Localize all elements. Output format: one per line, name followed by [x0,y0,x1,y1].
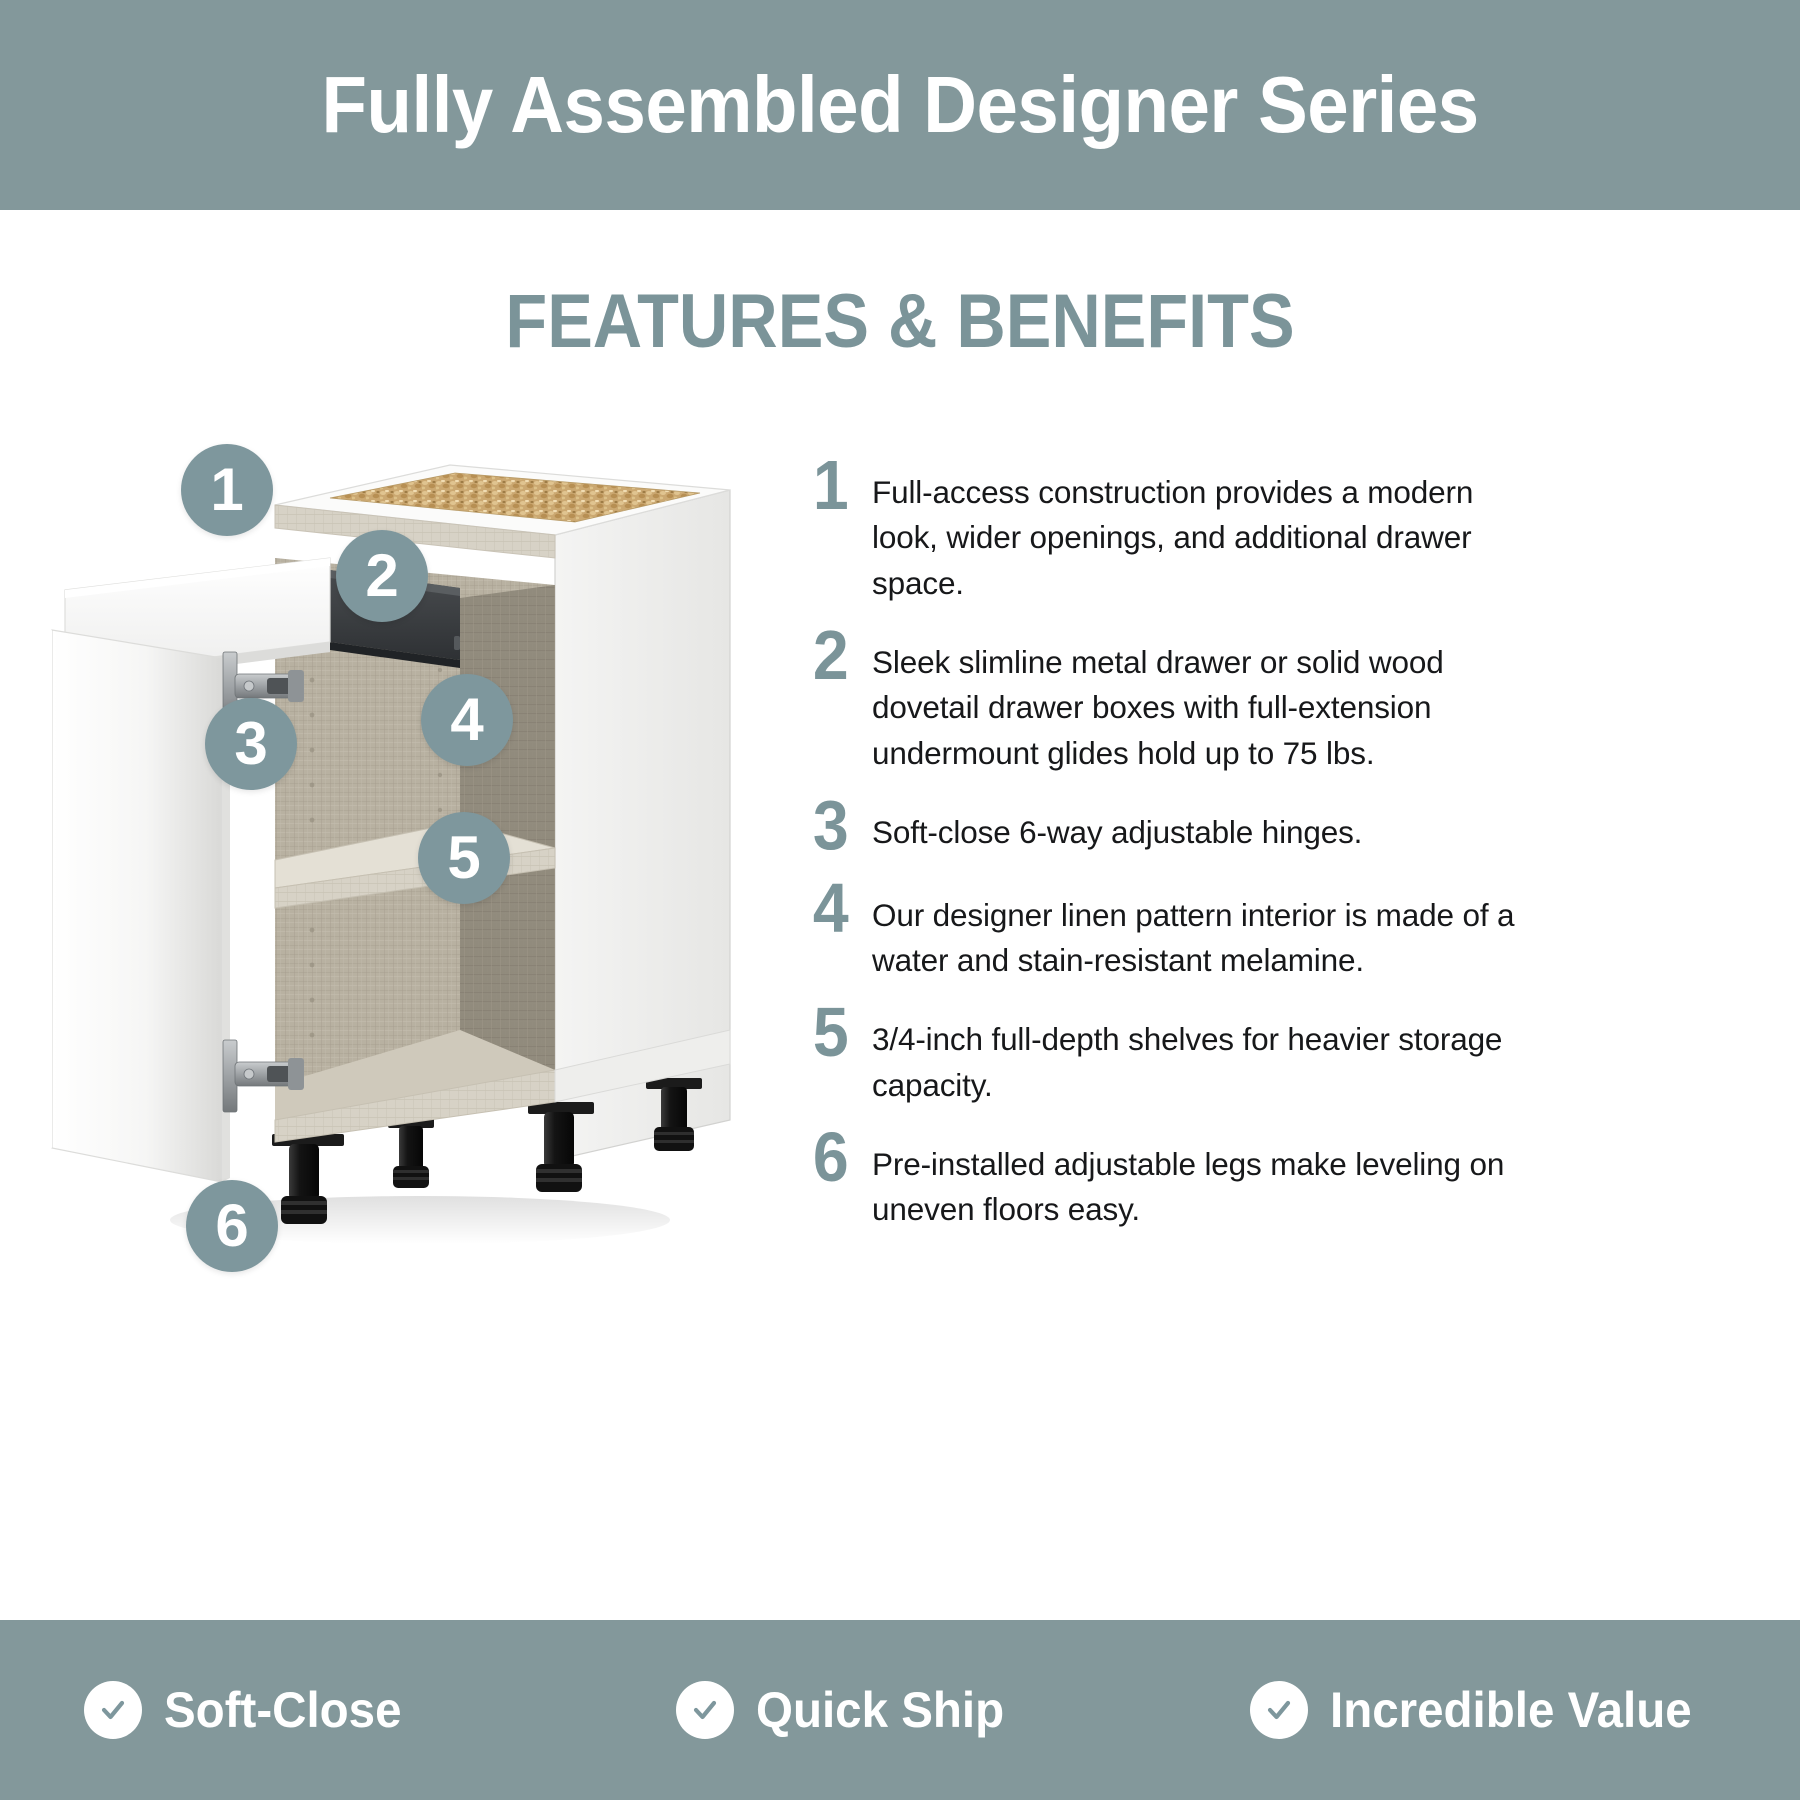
feature-number-3: 3 [800,792,866,859]
footer-item-soft-close: Soft-Close [0,1681,634,1739]
check-circle-icon [84,1681,142,1739]
feature-text-4: Our designer linen pattern interior is m… [872,875,1520,984]
feature-number-6: 6 [800,1124,866,1191]
footer-item-quick-ship: Quick Ship [634,1681,1226,1739]
footer-label-soft-close: Soft-Close [164,1681,402,1739]
footer-label-quick-ship: Quick Ship [756,1681,1004,1739]
feature-text-1: Full-access construction provides a mode… [872,452,1520,606]
header-bar: Fully Assembled Designer Series [0,0,1800,210]
check-circle-icon [1250,1681,1308,1739]
feature-number-1: 1 [800,452,866,519]
callout-badge-5[interactable]: 5 [418,812,510,904]
features-list: 1 Full-access construction provides a mo… [800,452,1520,1249]
page-title: Fully Assembled Designer Series [321,59,1478,151]
callout-badge-3[interactable]: 3 [205,698,297,790]
feature-text-5: 3/4-inch full-depth shelves for heavier … [872,999,1520,1108]
feature-item-5: 5 3/4-inch full-depth shelves for heavie… [800,999,1520,1108]
footer-item-incredible-value: Incredible Value [1226,1681,1800,1739]
feature-item-2: 2 Sleek slimline metal drawer or solid w… [800,622,1520,776]
feature-text-6: Pre-installed adjustable legs make level… [872,1124,1520,1233]
feature-number-2: 2 [800,622,866,689]
footer-label-incredible-value: Incredible Value [1330,1681,1692,1739]
feature-text-3: Soft-close 6-way adjustable hinges. [872,792,1520,855]
feature-text-2: Sleek slimline metal drawer or solid woo… [872,622,1520,776]
feature-number-4: 4 [800,875,866,942]
feature-number-5: 5 [800,999,866,1066]
footer-bar: Soft-Close Quick Ship Incredible Value [0,1620,1800,1800]
callout-badge-2[interactable]: 2 [336,530,428,622]
product-illustration: 1 2 3 4 5 6 [30,430,790,1290]
section-title: FEATURES & BENEFITS [90,278,1710,365]
check-circle-icon [676,1681,734,1739]
callout-badge-1[interactable]: 1 [181,444,273,536]
callout-badge-6[interactable]: 6 [186,1180,278,1272]
feature-item-3: 3 Soft-close 6-way adjustable hinges. [800,792,1520,859]
leg-rear-left [388,1118,434,1188]
feature-item-4: 4 Our designer linen pattern interior is… [800,875,1520,984]
callout-badge-4[interactable]: 4 [421,674,513,766]
feature-item-6: 6 Pre-installed adjustable legs make lev… [800,1124,1520,1233]
feature-item-1: 1 Full-access construction provides a mo… [800,452,1520,606]
